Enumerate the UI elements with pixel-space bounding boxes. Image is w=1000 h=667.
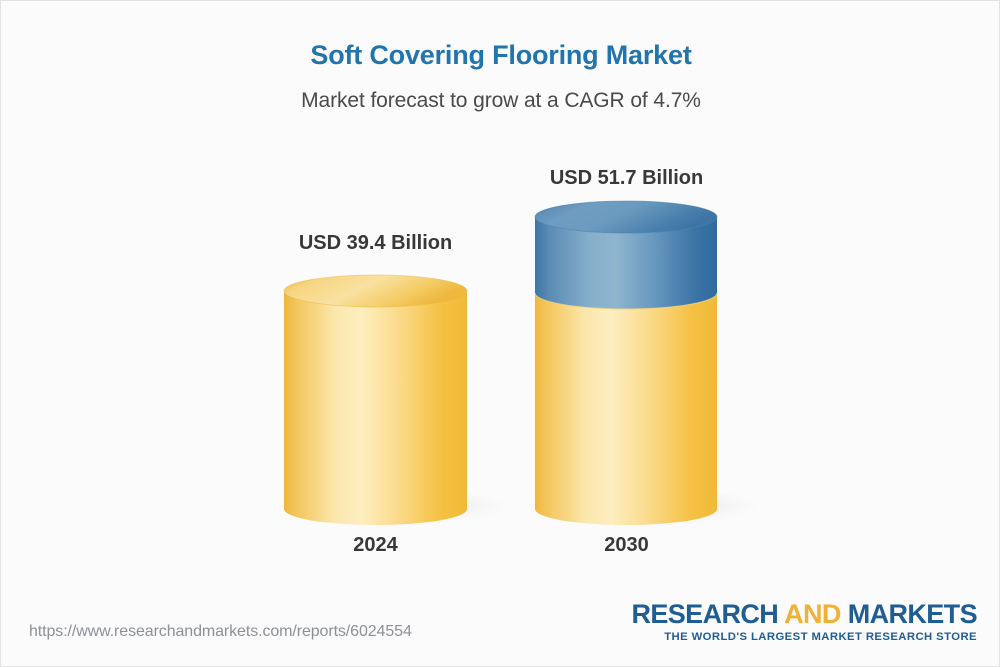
bar-2030[interactable] xyxy=(535,201,717,525)
brand-word-research: RESEARCH xyxy=(631,599,784,629)
chart-canvas: Soft Covering Flooring Market Market for… xyxy=(0,0,1000,667)
brand-word-and: AND xyxy=(784,599,848,629)
report-url[interactable]: https://www.researchandmarkets.com/repor… xyxy=(29,623,412,641)
bar-2024[interactable] xyxy=(284,275,467,525)
bar-2030-base-segment xyxy=(535,293,717,525)
brand-tagline: THE WORLD'S LARGEST MARKET RESEARCH STOR… xyxy=(631,632,977,643)
brand-logo-wordmark: RESEARCH AND MARKETS xyxy=(631,601,977,628)
brand-word-markets: MARKETS xyxy=(848,599,977,629)
x-tick-label-2024: 2024 xyxy=(275,534,476,557)
brand-logo[interactable]: RESEARCH AND MARKETS THE WORLD'S LARGEST… xyxy=(631,601,977,643)
x-tick-label-2030: 2030 xyxy=(526,534,727,557)
bar-chart xyxy=(1,1,1000,667)
data-label-2030: USD 51.7 Billion xyxy=(526,167,727,190)
bar-2024-body xyxy=(284,291,467,525)
data-label-2024: USD 39.4 Billion xyxy=(275,232,476,255)
